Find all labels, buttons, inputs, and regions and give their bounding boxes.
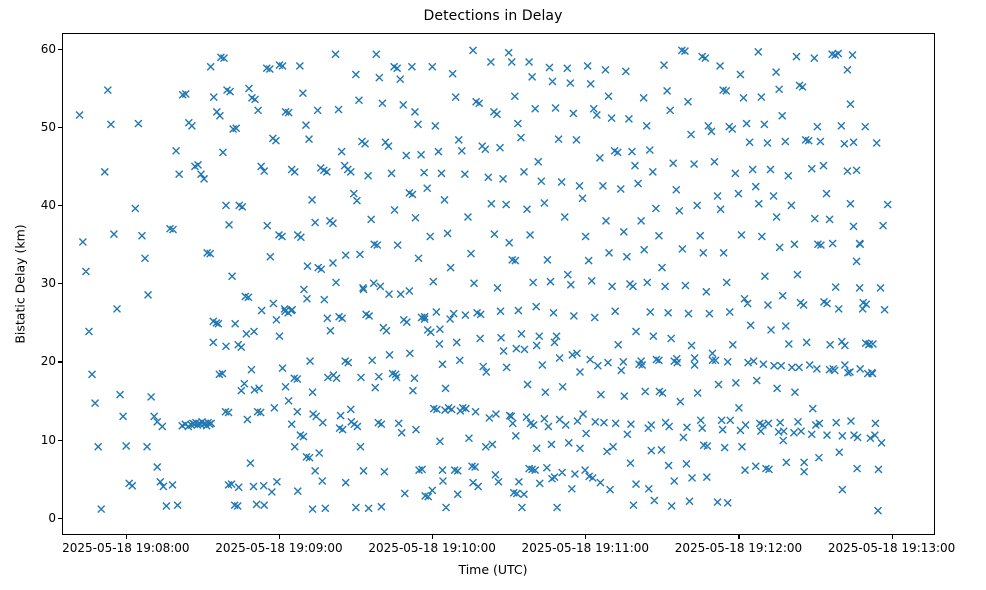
x-tick-mark [738,535,739,539]
x-tick-mark [432,535,433,539]
x-tick-mark [892,535,893,539]
chart-figure: Detections in Delay Bistatic Delay (km) … [0,0,986,590]
scatter-marker-group [76,47,891,514]
y-tick-label: 40 [16,198,56,212]
x-tick-label: 2025-05-18 19:13:00 [828,541,955,555]
x-axis-label: Time (UTC) [0,562,986,577]
x-tick-label: 2025-05-18 19:08:00 [62,541,189,555]
y-tick-label: 0 [16,511,56,525]
y-tick-label: 60 [16,42,56,56]
x-tick-label: 2025-05-18 19:12:00 [675,541,802,555]
plot-area [62,33,935,535]
x-tick-label: 2025-05-18 19:10:00 [368,541,495,555]
y-tick-label: 50 [16,120,56,134]
y-axis-ticks: 0102030405060 [0,0,56,590]
x-tick-mark [585,535,586,539]
x-tick-mark [126,535,127,539]
page-title: Detections in Delay [0,8,986,24]
x-tick-mark [279,535,280,539]
y-tick-label: 10 [16,433,56,447]
y-tick-label: 20 [16,354,56,368]
x-tick-label: 2025-05-18 19:09:00 [215,541,342,555]
scatter-series [63,34,934,534]
y-tick-label: 30 [16,276,56,290]
x-tick-label: 2025-05-18 19:11:00 [522,541,649,555]
